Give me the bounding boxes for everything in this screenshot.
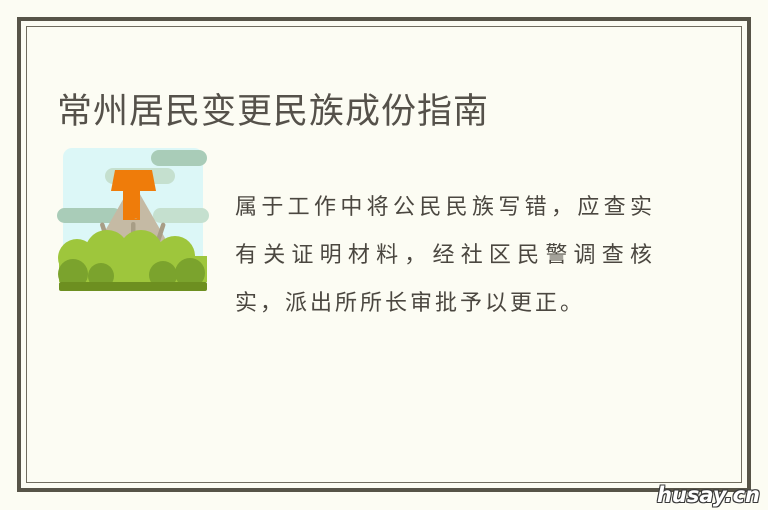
ground-strip <box>59 282 207 291</box>
article-body: 属于工作中将公民民族写错，应查实有关证明材料，经社区民警调查核实，派出所所长审批… <box>235 184 655 328</box>
volcano-icon <box>57 146 209 296</box>
cloud-icon-4 <box>153 208 209 223</box>
lava-flow <box>123 186 140 218</box>
site-watermark: husay.cn <box>657 483 760 507</box>
page-title: 常州居民变更民族成份指南 <box>57 89 489 135</box>
article-page: 常州居民变更民族成份指南 <box>0 0 768 510</box>
cloud-icon-1 <box>151 150 207 166</box>
volcano-illustration <box>57 146 209 296</box>
